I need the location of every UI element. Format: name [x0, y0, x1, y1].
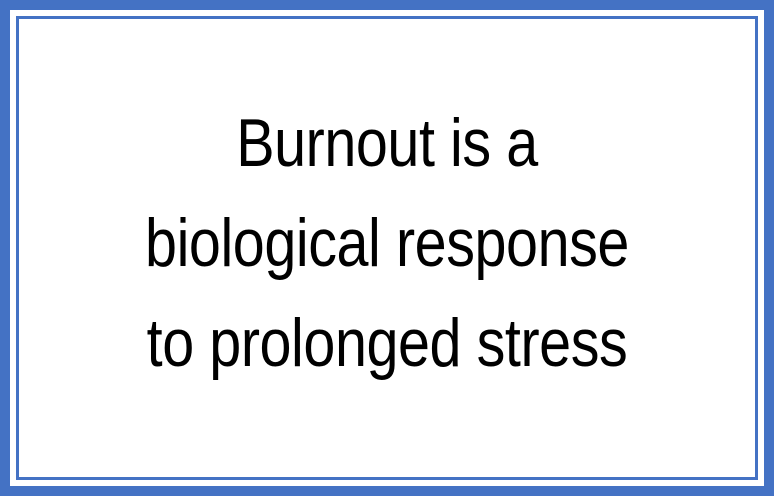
slide-canvas: Burnout is a biological response to prol…	[0, 0, 774, 496]
headline-line-1: Burnout is a	[76, 93, 698, 193]
headline-line-2: biological response	[76, 193, 698, 293]
slide-content-area: Burnout is a biological response to prol…	[19, 19, 755, 477]
headline-line-3: to prolonged stress	[76, 293, 698, 393]
headline-text-block: Burnout is a biological response to prol…	[19, 93, 755, 393]
